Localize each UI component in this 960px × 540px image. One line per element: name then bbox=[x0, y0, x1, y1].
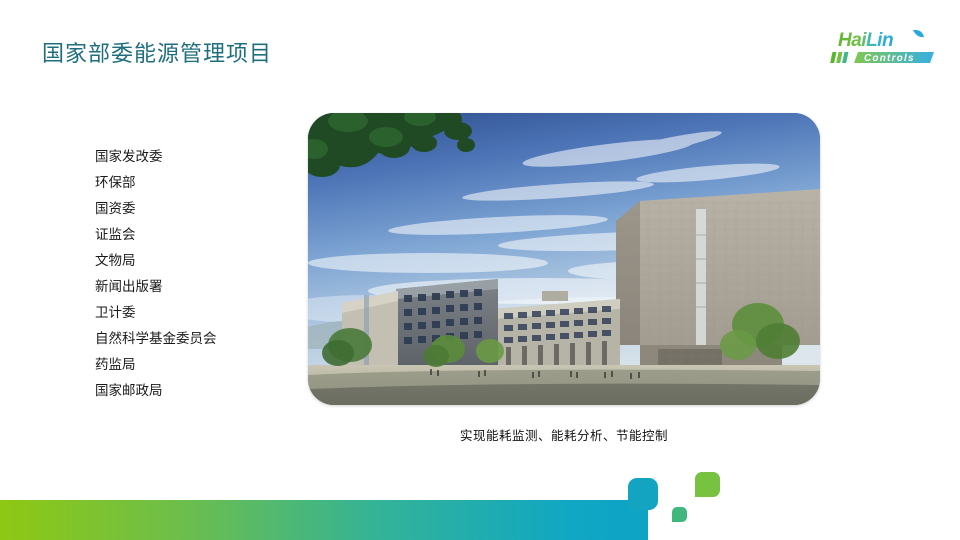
list-item: 药监局 bbox=[95, 352, 295, 378]
hailin-controls-logo: HaiLin Controls bbox=[830, 26, 942, 70]
decorative-cyan-square bbox=[628, 478, 658, 510]
list-item: 证监会 bbox=[95, 222, 295, 248]
project-photo bbox=[308, 113, 820, 405]
list-item: 自然科学基金委员会 bbox=[95, 326, 295, 352]
list-item: 国家发改委 bbox=[95, 144, 295, 170]
list-item: 文物局 bbox=[95, 248, 295, 274]
decorative-green-square-large bbox=[695, 472, 720, 497]
list-item: 环保部 bbox=[95, 170, 295, 196]
logo-wordmark: HaiLin bbox=[838, 30, 893, 51]
footer-gradient-bar bbox=[0, 500, 648, 540]
photo-caption: 实现能耗监测、能耗分析、节能控制 bbox=[308, 425, 820, 444]
agency-list: 国家发改委 环保部 国资委 证监会 文物局 新闻出版署 卫计委 自然科学基金委员… bbox=[95, 144, 295, 404]
list-item: 新闻出版署 bbox=[95, 274, 295, 300]
slide-canvas: 国家部委能源管理项目 HaiLin bbox=[0, 0, 960, 540]
list-item: 国资委 bbox=[95, 196, 295, 222]
list-item: 国家邮政局 bbox=[95, 378, 295, 404]
list-item: 卫计委 bbox=[95, 300, 295, 326]
logo-subtitle: Controls bbox=[864, 53, 915, 64]
leaf-icon bbox=[913, 30, 924, 37]
decorative-green-square-small bbox=[672, 507, 687, 522]
page-title: 国家部委能源管理项目 bbox=[42, 40, 272, 68]
